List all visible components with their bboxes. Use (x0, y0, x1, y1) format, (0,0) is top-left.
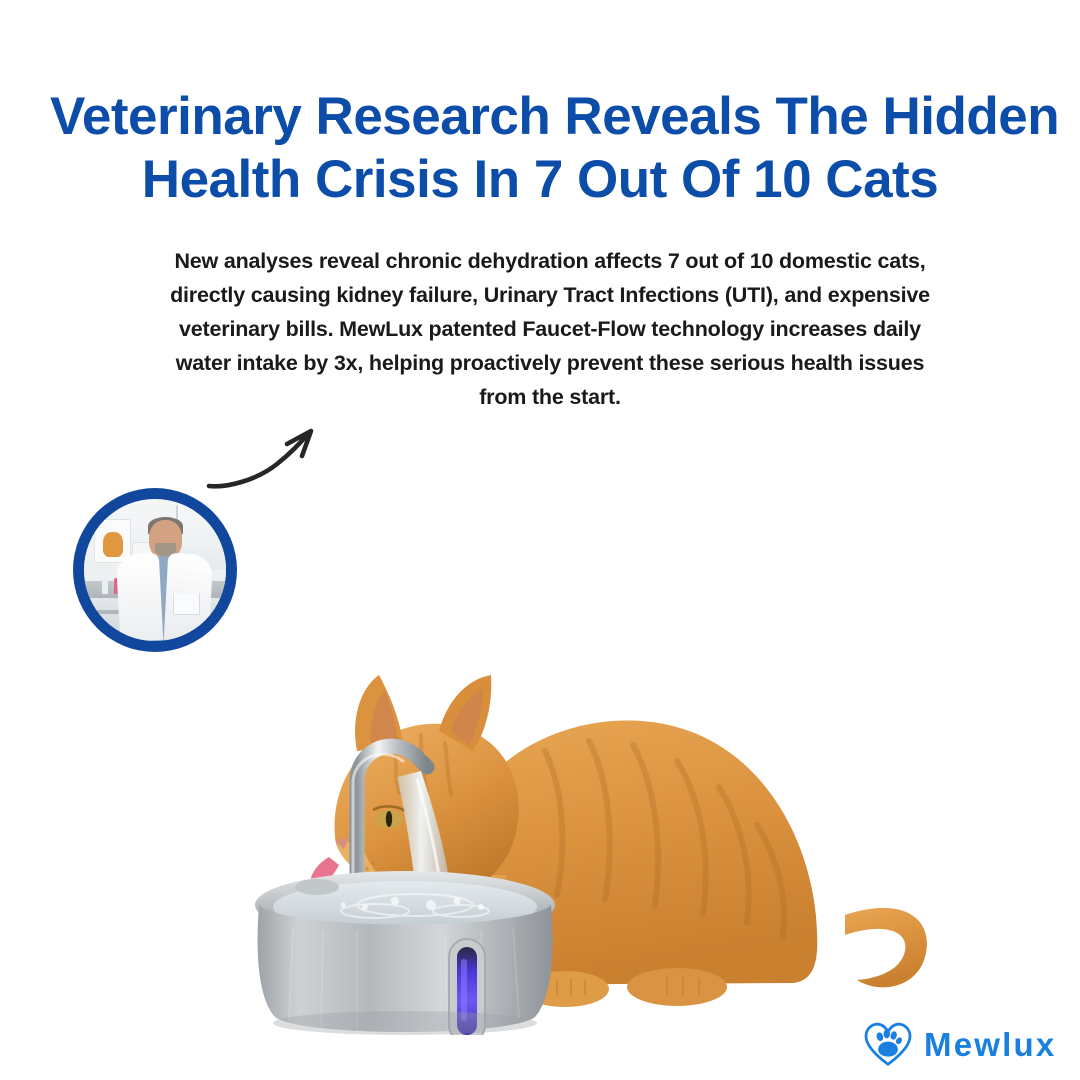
curved-arrow-icon (205, 420, 335, 495)
fountain-base-shadow (273, 1011, 537, 1035)
body-copy: New analyses reveal chronic dehydration … (170, 245, 930, 415)
poster-cat-illustration (103, 532, 123, 557)
heart-paw-icon (862, 1018, 914, 1070)
headline-line-2: Health Crisis In 7 Out Of 10 Cats (50, 149, 1030, 212)
cat-pupil (386, 811, 392, 827)
ad-creative-canvas: Veterinary Research Reveals The Hidden H… (0, 0, 1080, 1080)
cat-tail (845, 908, 927, 987)
fountain-lid-handle (295, 879, 339, 895)
veterinarian-photo (84, 499, 226, 641)
brand-logo[interactable]: Mewlux (862, 1018, 1056, 1070)
product-scene (245, 575, 945, 1035)
brand-name: Mewlux (924, 1028, 1056, 1061)
headline-line-1: Veterinary Research Reveals The Hidden (50, 86, 1030, 149)
supply-bottle (102, 578, 108, 594)
led-glow (461, 959, 467, 1021)
avatar (73, 488, 237, 652)
vet-lab-coat-left (116, 553, 163, 641)
vet-coat-pocket (173, 593, 199, 615)
page-title: Veterinary Research Reveals The Hidden H… (50, 86, 1030, 211)
paw-print-icon (875, 1029, 903, 1056)
cat-hind-paw (627, 968, 727, 1006)
